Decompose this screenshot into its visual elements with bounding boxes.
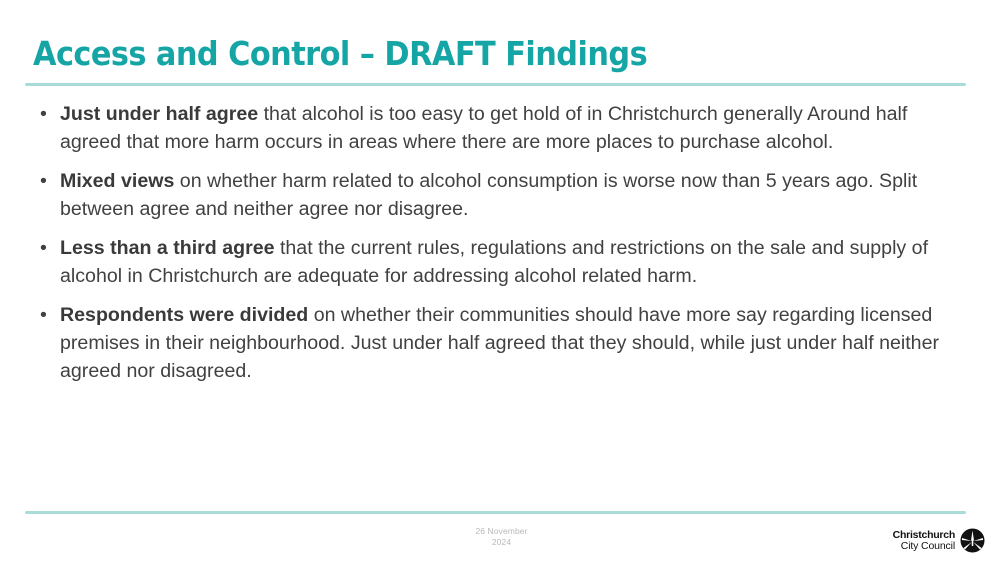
bullet-lead-text: Mixed views [60, 170, 174, 192]
bullet-marker-icon: • [40, 301, 47, 329]
logo-line-city-council: City Council [893, 541, 955, 552]
bullet-marker-icon: • [40, 234, 47, 262]
bullet-item: •Just under half agree that alcohol is t… [33, 100, 968, 156]
footer-date-line-1: 26 November [0, 526, 1003, 537]
bullet-marker-icon: • [40, 100, 47, 128]
slide-title: Access and Control – DRAFT Findings [33, 33, 889, 75]
logo-wordmark: Christchurch City Council [893, 530, 955, 552]
bullet-item: •Respondents were divided on whether the… [33, 301, 968, 385]
bullet-body-text: on whether harm related to alcohol consu… [60, 170, 917, 220]
bullet-item: •Less than a third agree that the curren… [33, 234, 968, 290]
christchurch-city-council-logo: Christchurch City Council [893, 528, 985, 553]
council-emblem-icon [960, 528, 985, 553]
slide-date-footer: 26 November 2024 [0, 526, 1003, 548]
footer-divider-rule [25, 511, 966, 514]
bullet-lead-text: Just under half agree [60, 103, 258, 125]
presentation-slide: Access and Control – DRAFT Findings •Jus… [0, 0, 1003, 565]
footer-date-line-2: 2024 [0, 537, 1003, 548]
bullet-item: •Mixed views on whether harm related to … [33, 167, 968, 223]
bullet-lead-text: Respondents were divided [60, 304, 308, 326]
title-divider-rule [25, 83, 966, 86]
bullet-list: •Just under half agree that alcohol is t… [33, 100, 968, 385]
logo-line-christchurch: Christchurch [893, 530, 955, 541]
bullet-lead-text: Less than a third agree [60, 237, 275, 259]
bullet-marker-icon: • [40, 167, 47, 195]
